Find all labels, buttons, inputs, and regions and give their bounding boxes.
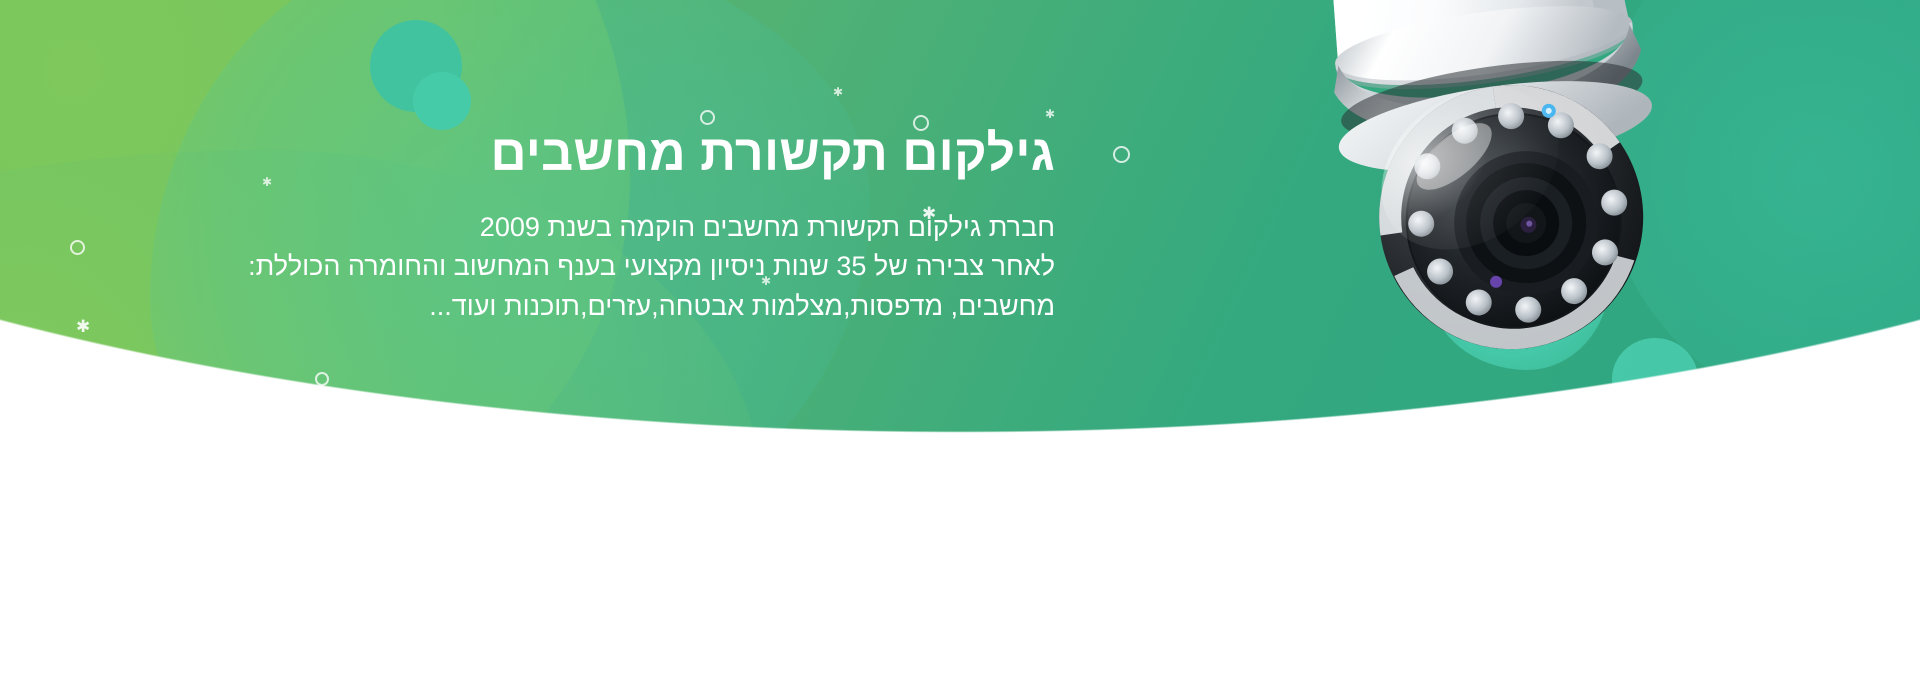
ring-decoration-1 bbox=[70, 240, 85, 255]
background-circle-teal-top-small bbox=[413, 72, 471, 130]
background-circle-teal-right-small bbox=[1740, 392, 1788, 438]
ring-decoration-2 bbox=[96, 400, 113, 417]
ring-decoration-3 bbox=[315, 372, 329, 386]
description-line-2: לאחר צבירה של 35 שנות ניסיון מקצועי בענף… bbox=[255, 247, 1055, 286]
background-circle-teal-bottom bbox=[630, 432, 700, 494]
ring-decoration-4 bbox=[700, 110, 715, 125]
background-circle-teal-bottom-small bbox=[725, 465, 759, 499]
banner-description: חברת גילקום תקשורת מחשבים הוקמה בשנת 200… bbox=[255, 208, 1055, 326]
banner-copy: גילקום תקשורת מחשבים חברת גילקום תקשורת … bbox=[255, 126, 1055, 326]
sparkle-decoration-1: ✱ bbox=[76, 318, 90, 335]
description-line-1: חברת גילקום תקשורת מחשבים הוקמה בשנת 200… bbox=[255, 208, 1055, 247]
background-circle-teal-top bbox=[370, 20, 462, 112]
description-line-3: מחשבים, מדפסות,מצלמות אבטחה,עזרים,תוכנות… bbox=[255, 287, 1055, 326]
sparkle-decoration-7: ✱ bbox=[1045, 108, 1055, 120]
page-title: גילקום תקשורת מחשבים bbox=[255, 126, 1055, 180]
background-blob-teal-bottom bbox=[530, 430, 680, 550]
security-camera-image bbox=[1228, 0, 1801, 402]
background-blob-teal-bottom-right bbox=[1450, 430, 1920, 700]
sparkle-decoration-2: ✱ bbox=[178, 408, 188, 420]
banner-background: ✱ ✱ ✱ ✱ ✱ ✱ ✱ גילקום תקשורת מחשבים חברת … bbox=[0, 0, 1920, 700]
ring-decoration-6 bbox=[1113, 146, 1130, 163]
hero-banner: ✱ ✱ ✱ ✱ ✱ ✱ ✱ גילקום תקשורת מחשבים חברת … bbox=[0, 0, 1920, 700]
sparkle-decoration-5: ✱ bbox=[833, 86, 843, 98]
